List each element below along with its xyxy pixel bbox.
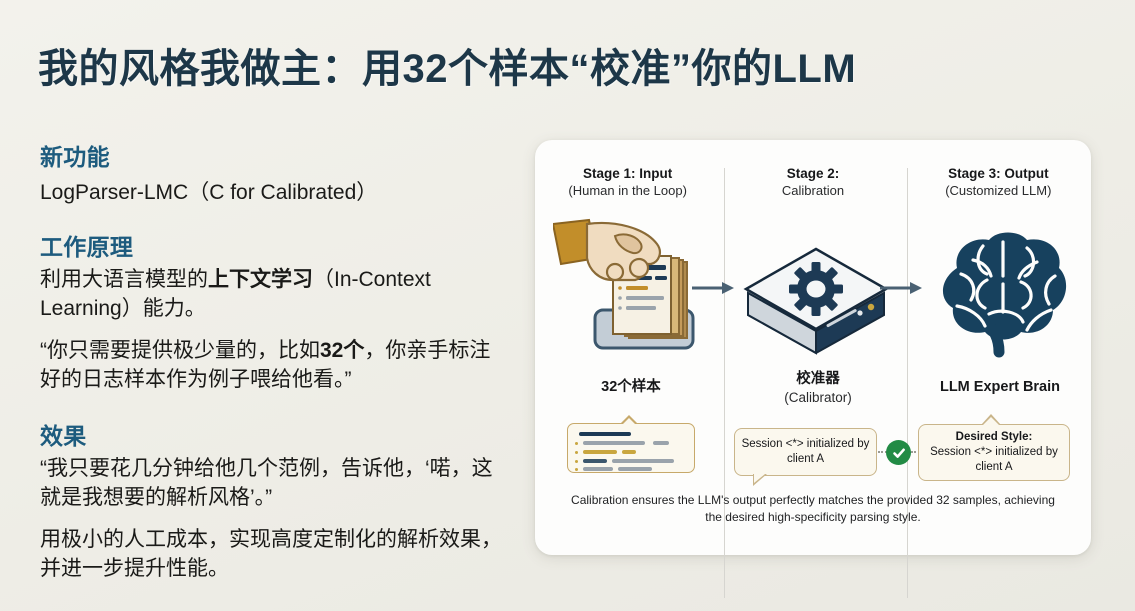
diagram-card: Stage 1: Input (Human in the Loop) Stage…: [535, 140, 1091, 555]
stage-3-subtitle: (Customized LLM): [906, 183, 1091, 199]
sample-document-card: [567, 423, 695, 473]
feature-name: LogParser-LMC（C for Calibrated）: [40, 176, 510, 206]
results-summary: 用极小的人工成本，实现高度定制化的解析效果，并进一步提升性能。: [40, 526, 510, 584]
section-heading-results: 效果: [40, 417, 510, 451]
llm-brain-icon: [927, 224, 1077, 364]
doc-line-title: [579, 432, 631, 436]
calibrator-device-icon: [740, 243, 892, 355]
stage-1-title: Stage 1: Input: [535, 166, 720, 183]
stage-heading-3: Stage 3: Output (Customized LLM): [906, 166, 1091, 199]
doc-bullet-3: [575, 460, 578, 463]
doc-line-3b: [612, 459, 674, 463]
section-heading-how-it-works: 工作原理: [40, 228, 510, 262]
text-emphasis: 上下文学习: [208, 268, 313, 291]
results-quote: “我只要花几分钟给他几个范例，告诉他，‘喏，这就是我想要的解析风格’。”: [40, 455, 510, 513]
success-check-badge: [886, 440, 911, 465]
how-it-works-paragraph: 利用大语言模型的上下文学习（In-Context Learning）能力。: [40, 266, 510, 324]
session-bubble-left-text: Session <*> initialized by client A: [739, 437, 872, 467]
stage-3-label-primary: LLM Expert Brain: [907, 378, 1093, 397]
desired-style-title: Desired Style:: [956, 430, 1033, 445]
stage-headings-row: Stage 1: Input (Human in the Loop) Stage…: [535, 166, 1091, 199]
stage-2-label-primary: 校准器: [725, 370, 911, 389]
check-icon: [891, 445, 907, 461]
arrow-stage2-to-stage3: [880, 280, 922, 296]
left-content-column: 新功能 LogParser-LMC（C for Calibrated） 工作原理…: [40, 138, 510, 586]
stage-3-title: Stage 3: Output: [906, 166, 1091, 183]
doc-line-3: [583, 459, 607, 463]
doc-line-2: [583, 450, 617, 454]
how-it-works-quote: “你只需要提供极少量的，比如32个，你亲手标注好的日志样本作为例子喂给他看。”: [40, 337, 510, 395]
doc-line-4b: [618, 467, 652, 471]
slide-root: 我的风格我做主：用32个样本“校准”你的LLM 新功能 LogParser-LM…: [0, 0, 1135, 611]
stage-2-label: 校准器 (Calibrator): [725, 370, 911, 406]
diagram-caption: Calibration ensures the LLM's output per…: [563, 492, 1063, 526]
stage-2-title: Stage 2:: [720, 166, 905, 183]
stage-heading-1: Stage 1: Input (Human in the Loop): [535, 166, 720, 199]
stage-heading-2: Stage 2: Calibration: [720, 166, 905, 199]
section-results: 效果 “我只要花几分钟给他几个范例，告诉他，‘喏，这就是我想要的解析风格’。” …: [40, 417, 510, 584]
page-title: 我的风格我做主：用32个样本“校准”你的LLM: [38, 36, 1038, 94]
doc-bullet-4: [575, 468, 578, 471]
section-how-it-works: 工作原理 利用大语言模型的上下文学习（In-Context Learning）能…: [40, 228, 510, 395]
doc-line-1: [583, 441, 645, 445]
stage-1-label: 32个样本: [538, 378, 724, 397]
doc-line-1b: [653, 441, 669, 445]
section-new-feature: 新功能 LogParser-LMC（C for Calibrated）: [40, 138, 510, 206]
doc-bullet-2: [575, 451, 578, 454]
stage-1-subtitle: (Human in the Loop): [535, 183, 720, 199]
arrow-stage1-to-stage2: [692, 280, 734, 296]
desired-style-text: Session <*> initialized by client A: [924, 445, 1064, 474]
section-heading-new-feature: 新功能: [40, 138, 510, 172]
stage-2-label-secondary: (Calibrator): [725, 389, 911, 407]
doc-line-4: [583, 467, 613, 471]
desired-style-bubble: Desired Style: Session <*> initialized b…: [918, 424, 1070, 481]
doc-bullet-1: [575, 442, 578, 445]
stage-3-label: LLM Expert Brain: [907, 378, 1093, 397]
quote-emphasis: 32个: [320, 339, 364, 362]
stage-1-label-primary: 32个样本: [538, 378, 724, 397]
quote-pre: “你只需要提供极少量的，比如: [40, 339, 320, 362]
stage-2-subtitle: Calibration: [720, 183, 905, 199]
session-bubble-left: Session <*> initialized by client A: [734, 428, 877, 476]
text-pre: 利用大语言模型的: [40, 268, 208, 291]
doc-line-2b: [622, 450, 636, 454]
